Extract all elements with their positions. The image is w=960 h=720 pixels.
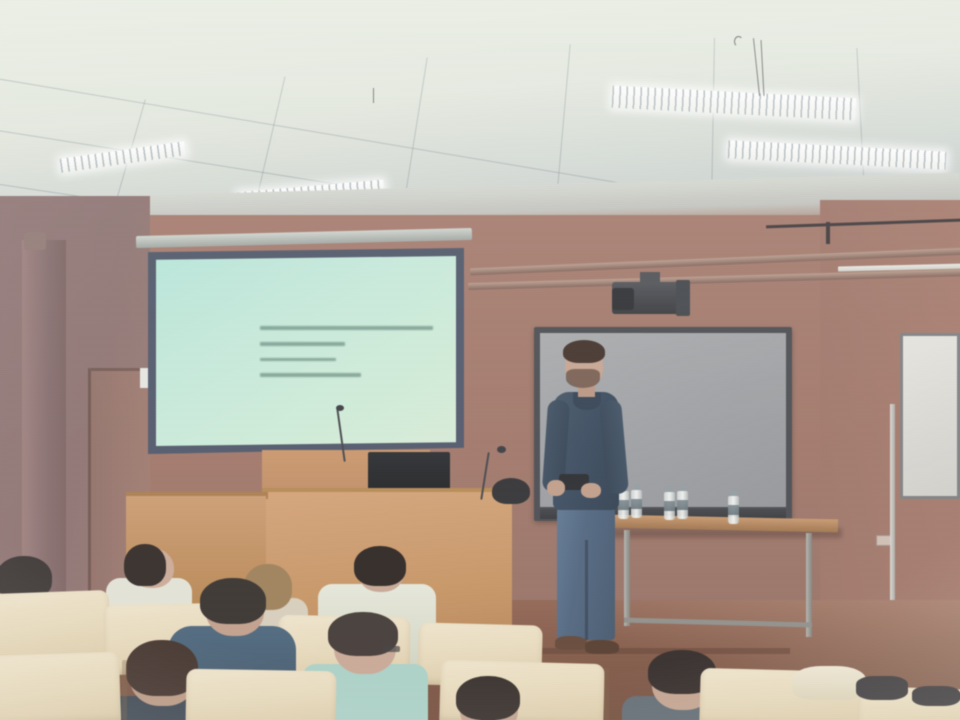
presenter-shoe-right [585,640,619,654]
bottle-label [728,505,739,515]
eyeglasses-icon [382,646,400,652]
slide-bullet-1 [260,342,345,346]
projection-screen-side-tab [140,368,148,388]
presenter-shoe-left [555,636,587,650]
presenter-leg-seam [585,540,588,640]
ceiling-beam-drop [826,222,830,244]
person-hair [456,676,520,720]
presenter-hand-right [581,483,601,498]
slide-bullet-3 [260,373,361,377]
presenter-hair [563,340,605,363]
presenter-hand-left [547,480,565,496]
pillar-cap [24,232,46,250]
seat-divider-1 [122,660,127,720]
person-hair [124,544,166,586]
lecture-hall-photo [0,0,960,720]
seat-row2-b[interactable] [186,669,337,720]
slide-content [260,326,440,389]
slide-bullet-2 [260,358,336,362]
bottle-label [677,500,688,510]
microphone-head-left [336,405,344,411]
projection-screen-frame [148,248,464,454]
flipchart-board[interactable] [900,333,960,499]
bag-on-seat-3[interactable] [912,686,960,706]
seat-row2-a[interactable] [0,652,121,720]
podium-speaker-box [492,478,530,504]
bottle-label [664,501,675,511]
ceiling-cable-hook-icon [734,36,743,47]
projection-screen-surface [156,256,456,446]
person-hair [354,546,406,586]
person-hair [200,578,266,624]
presenter [533,340,641,662]
projector-lens-icon [612,288,634,310]
ceiling-cable-left [373,88,374,103]
slide-title [260,326,433,330]
projector-side [676,280,690,316]
bag-on-seat-2[interactable] [856,676,908,700]
bag-on-seat-1[interactable] [792,666,866,700]
presenter-beard [566,369,600,388]
microphone-head-right [497,446,506,453]
seat-divider-2 [604,668,609,720]
